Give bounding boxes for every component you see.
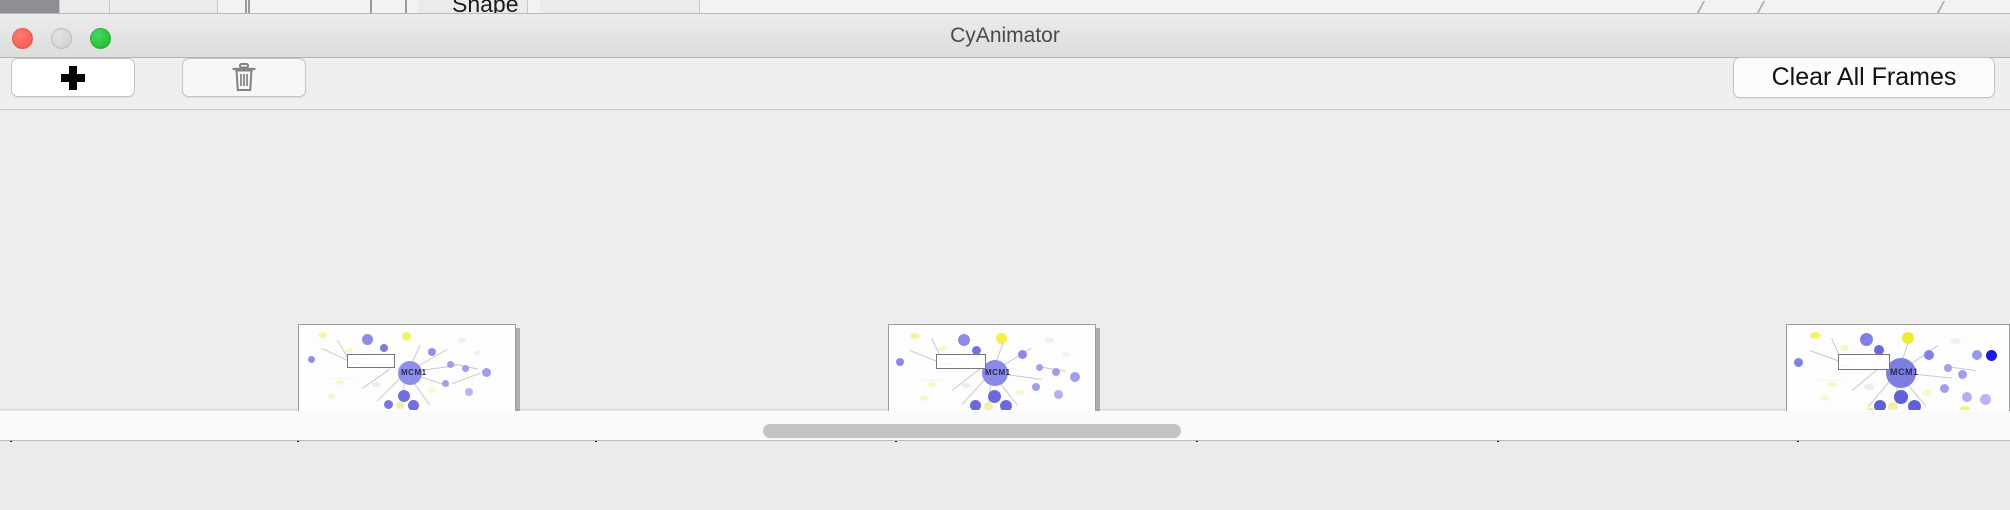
bg-tab-dark [0, 0, 60, 14]
plus-icon [60, 65, 86, 91]
bg-tab [60, 0, 110, 14]
network-thumbnail: MCM1 [1790, 328, 2006, 410]
network-thumbnail: MCM1 [892, 328, 1092, 410]
bg-tab [110, 0, 218, 14]
timeline-panel[interactable]: MCM1 [0, 110, 2010, 410]
keyframe-thumbnail[interactable]: MCM1 [298, 324, 516, 414]
trash-icon [231, 63, 257, 93]
bg-divider-icon [1757, 1, 1779, 13]
playback-control-bar: Animation Speed: [0, 442, 2010, 510]
hub-node-label: MCM1 [985, 368, 1011, 377]
bg-divider-icon [1937, 1, 1959, 13]
clear-all-frames-button[interactable]: Clear All Frames [1733, 57, 1995, 98]
bg-notch [248, 0, 250, 14]
title-bar: CyAnimator [0, 14, 2010, 58]
bg-notch [405, 0, 407, 14]
delete-frame-button[interactable] [182, 58, 306, 97]
cyanimator-window: Shape CyAnimator Clear All Frames [0, 0, 2010, 510]
bg-notch [245, 0, 247, 14]
keyframe-thumbnail[interactable]: MCM1 [888, 324, 1096, 414]
hub-node-label: MCM1 [1890, 367, 1919, 377]
hub-node-label: MCM1 [401, 368, 427, 377]
horizontal-scrollbar-thumb[interactable] [763, 424, 1181, 438]
clear-all-frames-label: Clear All Frames [1772, 63, 1957, 92]
background-window-strip: Shape [0, 0, 2010, 14]
bg-divider-icon [1697, 1, 1719, 13]
background-window-label: Shape [452, 0, 519, 14]
window-title: CyAnimator [0, 14, 2010, 58]
keyframe-thumbnail[interactable]: MCM1 [1786, 324, 2010, 414]
network-thumbnail: MCM1 [302, 328, 512, 410]
bg-tab [540, 0, 700, 14]
add-frame-button[interactable] [11, 58, 135, 97]
bg-notch [370, 0, 372, 14]
